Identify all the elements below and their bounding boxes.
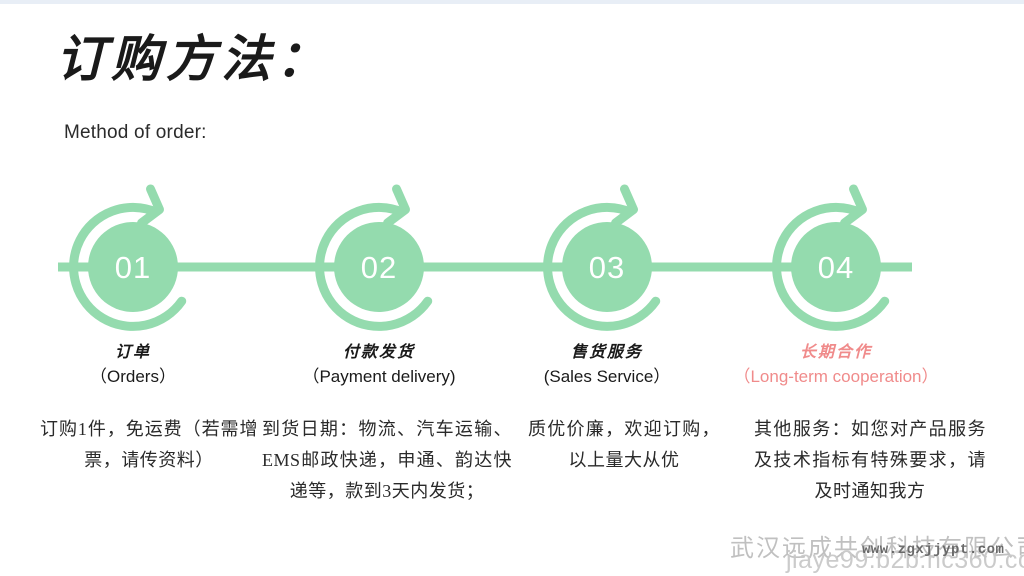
step-node-02[interactable]: 02 <box>320 189 428 326</box>
step-captions: 订单 （Orders） 付款发货 （Payment delivery) 售货服务… <box>0 344 1024 402</box>
step-caption-01: 订单 （Orders） <box>33 344 233 387</box>
step-label-en-03: (Sales Service） <box>507 367 707 387</box>
step-label-en-04: （Long-term cooperation） <box>716 367 956 387</box>
step-node-01[interactable]: 01 <box>74 189 182 326</box>
step-descriptions: 订购1件，免运费（若需增票，请传资料） 到货日期：物流、汽车运输、EMS邮政快递… <box>0 414 1024 554</box>
step-label-cn-03: 售货服务 <box>507 344 707 363</box>
step-label-en-02: （Payment delivery) <box>279 367 479 387</box>
step-label-cn-01: 订单 <box>33 344 233 363</box>
step-node-03[interactable]: 03 <box>548 189 656 326</box>
step-caption-03: 售货服务 (Sales Service） <box>507 344 707 387</box>
page-title-cn: 订购方法： <box>56 34 331 84</box>
step-number-01: 01 <box>115 250 151 285</box>
slide-canvas: 订购方法： Method of order: <box>0 0 1024 576</box>
step-body-04: 其他服务：如您对产品服务及技术指标有特殊要求，请及时通知我方 <box>754 414 986 507</box>
step-label-cn-04: 长期合作 <box>716 344 956 363</box>
step-body-02: 到货日期：物流、汽车运输、EMS邮政快递，申通、韵达快递等，款到3天内发货； <box>262 414 512 507</box>
step-body-03: 质优价廉，欢迎订购，以上量大从优 <box>528 414 720 476</box>
step-number-03: 03 <box>589 250 625 285</box>
step-number-02: 02 <box>361 250 397 285</box>
page-title-en: Method of order: <box>64 122 207 144</box>
step-caption-04: 长期合作 （Long-term cooperation） <box>716 344 956 387</box>
process-flow-diagram: 01 02 03 04 <box>0 168 1024 368</box>
step-node-04[interactable]: 04 <box>777 189 885 326</box>
step-label-en-01: （Orders） <box>33 367 233 387</box>
step-body-01: 订购1件，免运费（若需增票，请传资料） <box>40 414 258 476</box>
step-caption-02: 付款发货 （Payment delivery) <box>279 344 479 387</box>
step-number-04: 04 <box>818 250 854 285</box>
step-label-cn-02: 付款发货 <box>279 344 479 363</box>
